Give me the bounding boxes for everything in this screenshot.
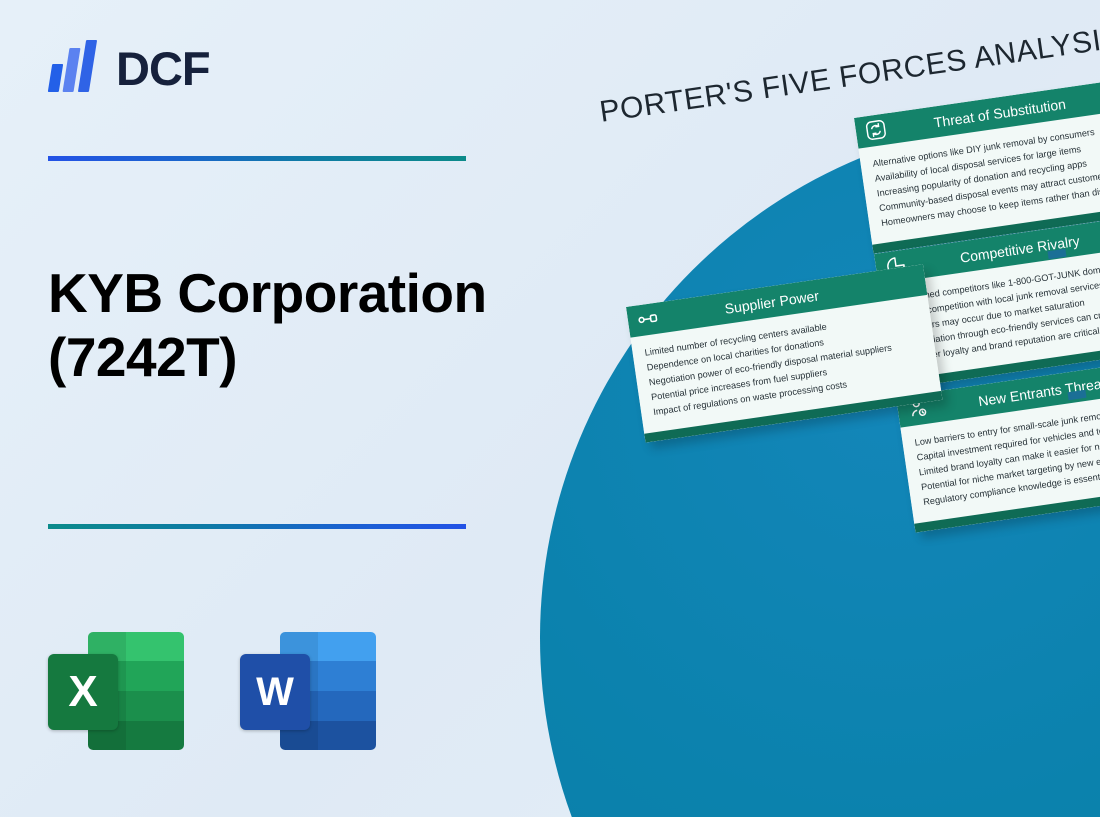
company-name: KYB Corporation [48,262,487,324]
dumbbell-icon [635,307,660,332]
left-panel: DCF KYB Corporation (7242T) X W [0,0,520,817]
brand-name: DCF [116,45,210,92]
divider-bottom [48,524,466,529]
poster-canvas: PORTER'S FIVE FORCES ANALYSIS Threat of … [0,0,1100,817]
excel-badge-letter: X [48,654,118,730]
download-icons: X W [48,628,380,754]
divider-top [48,156,466,161]
word-download-button[interactable]: W [240,628,380,754]
page-title: KYB Corporation (7242T) [48,262,508,390]
word-badge-letter: W [240,654,310,730]
brand-logo[interactable]: DCF [48,40,210,96]
three-bars-logo-icon [48,40,104,96]
company-ticker: (7242T) [48,326,508,390]
refresh-sync-icon [863,118,888,143]
excel-download-button[interactable]: X [48,628,188,754]
